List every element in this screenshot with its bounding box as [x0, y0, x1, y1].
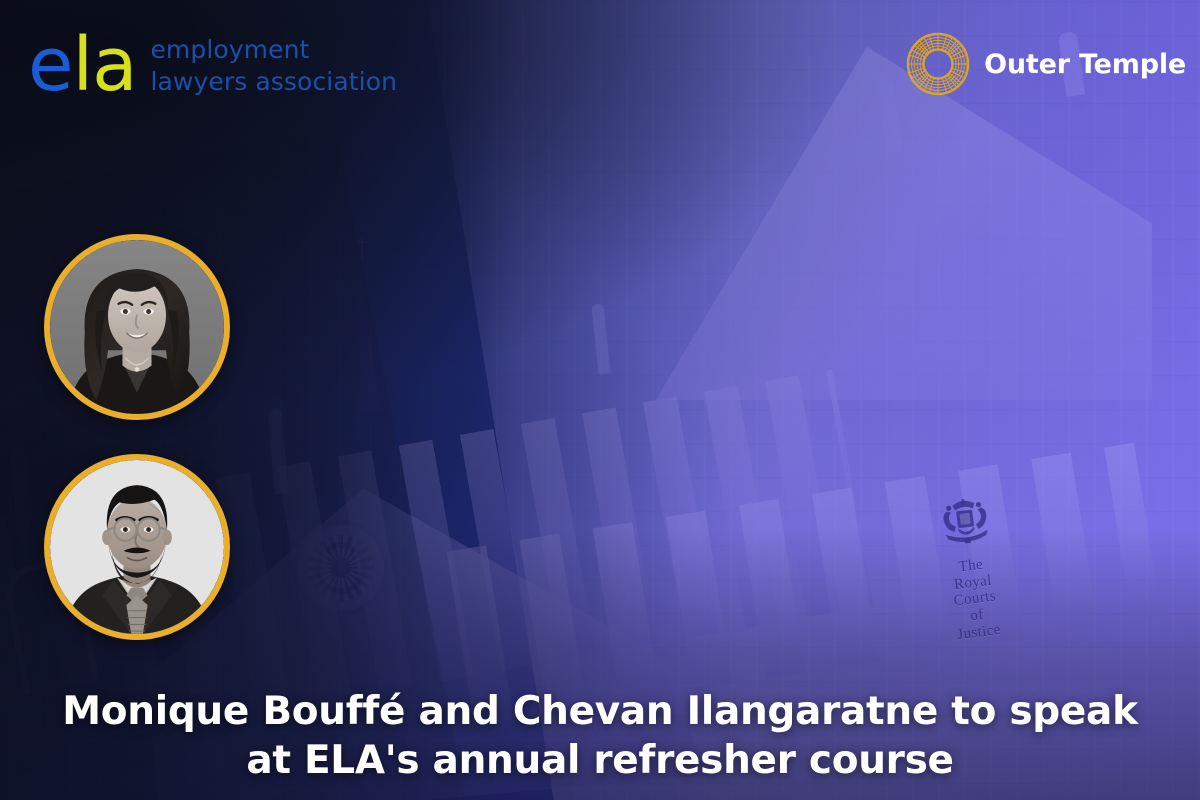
ela-tagline-line1: employment: [150, 34, 397, 66]
speaker-portrait-chevan-ilangaratne[interactable]: [44, 454, 230, 640]
avatar: [50, 240, 224, 414]
ela-wordmark: ela: [28, 34, 136, 98]
royal-coat-of-arms-icon: [929, 489, 1001, 553]
royal-courts-sign: The Royal Courts of Justice: [896, 485, 1045, 650]
ela-mark-e: e: [28, 22, 73, 108]
outer-temple-wordmark: Outer Temple: [984, 49, 1186, 80]
ela-logo[interactable]: ela employment lawyers association: [28, 34, 397, 98]
page-title: Monique Bouffé and Chevan Ilangaratne to…: [0, 687, 1200, 786]
ela-tagline: employment lawyers association: [150, 34, 397, 97]
avatar: [50, 460, 224, 634]
announcement-banner: The Royal Courts of Justice ela employme…: [0, 0, 1200, 800]
speaker-portrait-monique-bouffe[interactable]: [44, 234, 230, 420]
outer-temple-logo[interactable]: Outer Temple: [906, 32, 1186, 96]
ornate-gold-ring-icon: [906, 32, 970, 96]
ela-tagline-line2: lawyers association: [150, 66, 397, 98]
ela-mark-la: la: [73, 22, 137, 108]
